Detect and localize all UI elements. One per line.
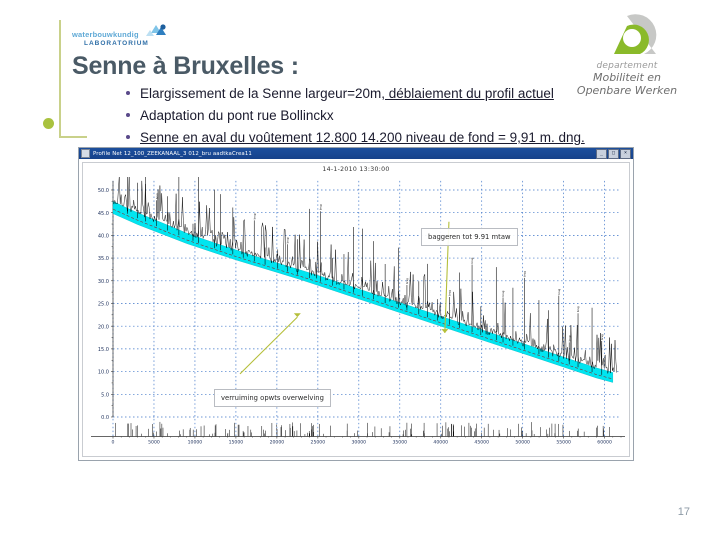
logo-right-department: departement <box>562 61 692 71</box>
list-item: Adaptation du pont rue Bollinckx <box>124 108 644 124</box>
bullet-text: Adaptation du pont rue Bollinckx <box>140 108 334 123</box>
app-window-icon <box>81 149 90 158</box>
svg-text:brug: brug <box>470 257 474 263</box>
svg-text:25000: 25000 <box>311 439 326 445</box>
svg-text:40.0: 40.0 <box>98 234 109 240</box>
svg-text:brug: brug <box>501 290 505 296</box>
triangle-swirl-icon <box>596 14 658 60</box>
window-body: 14-1-2010 13:30:00 0.05.010.015.020.025.… <box>79 159 633 460</box>
bullet-dot-icon <box>126 113 130 117</box>
svg-text:brug: brug <box>567 335 571 341</box>
svg-text:brug: brug <box>405 278 409 284</box>
svg-text:50.0: 50.0 <box>98 188 109 194</box>
svg-text:0: 0 <box>112 439 115 445</box>
svg-text:brug: brug <box>523 271 527 277</box>
svg-text:45000: 45000 <box>474 439 489 445</box>
svg-text:55000: 55000 <box>556 439 571 445</box>
chart-container: 14-1-2010 13:30:00 0.05.010.015.020.025.… <box>82 162 630 457</box>
svg-text:60000: 60000 <box>597 439 612 445</box>
longitudinal-profile-chart[interactable]: 0.05.010.015.020.025.030.035.040.045.050… <box>83 177 629 456</box>
svg-text:20000: 20000 <box>270 439 285 445</box>
window-titlebar[interactable]: Profile Net 12_100_ZEEKANAAL_3 012_bru a… <box>79 148 633 159</box>
svg-text:brug: brug <box>600 334 604 340</box>
bullet-text: Elargissement de la Senne largeur=20m <box>140 86 381 101</box>
profile-net-window: Profile Net 12_100_ZEEKANAAL_3 012_bru a… <box>78 147 634 461</box>
svg-text:50000: 50000 <box>515 439 530 445</box>
slide: waterbouwkundig LABORATORIUM departement… <box>0 0 720 540</box>
maximize-button[interactable]: □ <box>608 149 619 159</box>
svg-text:brug: brug <box>319 204 323 210</box>
window-title: Profile Net 12_100_ZEEKANAAL_3 012_bru a… <box>93 151 593 157</box>
logo-left-line2: LABORATORIUM <box>84 40 188 48</box>
mobiliteit-openbare-werken-logo: departement Mobiliteit en Openbare Werke… <box>562 14 692 96</box>
svg-text:45.0: 45.0 <box>98 211 109 217</box>
bullet-list: Elargissement de la Senne largeur=20m, d… <box>124 86 644 152</box>
page-title: Senne à Bruxelles : <box>72 52 299 81</box>
svg-text:35.0: 35.0 <box>98 256 109 262</box>
chart-title-date: 14-1-2010 13:30:00 <box>83 166 629 173</box>
svg-text:15.0: 15.0 <box>98 347 109 353</box>
verruiming-callout-text: verruiming opwts overwelving <box>221 394 324 402</box>
plot-area: 0.05.010.015.020.025.030.035.040.045.050… <box>83 177 629 456</box>
svg-text:brug: brug <box>448 290 452 296</box>
window-controls: _ □ × <box>596 149 631 159</box>
svg-text:20.0: 20.0 <box>98 324 109 330</box>
bullet-dot-icon <box>126 91 130 95</box>
svg-text:30000: 30000 <box>352 439 367 445</box>
bullet-text-underlined: , déblaiement du profil actuel <box>381 86 554 101</box>
svg-text:brug: brug <box>576 306 580 312</box>
svg-text:brug: brug <box>285 237 289 243</box>
waterbouwkundig-laboratorium-logo: waterbouwkundig LABORATORIUM <box>72 18 192 52</box>
svg-text:35000: 35000 <box>392 439 407 445</box>
svg-text:brug: brug <box>557 288 561 294</box>
close-button[interactable]: × <box>620 149 631 159</box>
bullet-text: Senne en aval du voûtement 12.800 14.200… <box>140 130 585 145</box>
logo-left-line1: waterbouwkundig <box>72 31 176 39</box>
bullet-dot-icon <box>126 135 130 139</box>
baggeren-callout-text: baggeren tot 9.91 mtaw <box>428 233 511 241</box>
svg-text:40000: 40000 <box>433 439 448 445</box>
svg-text:30.0: 30.0 <box>98 279 109 285</box>
logo-right-line1: Mobiliteit en <box>562 71 692 84</box>
svg-text:5.0: 5.0 <box>101 392 109 398</box>
decor-left-rule-foot <box>59 136 87 138</box>
svg-text:25.0: 25.0 <box>98 302 109 308</box>
slide-number: 17 <box>678 506 690 518</box>
svg-text:10.0: 10.0 <box>98 370 109 376</box>
decor-green-dot <box>43 118 54 129</box>
list-item: Elargissement de la Senne largeur=20m, d… <box>124 86 644 102</box>
svg-text:10000: 10000 <box>188 439 203 445</box>
decor-left-rule <box>59 20 61 138</box>
baggeren-callout: baggeren tot 9.91 mtaw <box>421 228 518 246</box>
minimize-button[interactable]: _ <box>596 149 607 159</box>
svg-text:brug: brug <box>252 213 256 219</box>
svg-text:5000: 5000 <box>148 439 160 445</box>
list-item: Senne en aval du voûtement 12.800 14.200… <box>124 130 644 146</box>
svg-text:brug: brug <box>155 193 159 199</box>
svg-text:15000: 15000 <box>229 439 244 445</box>
verruiming-callout: verruiming opwts overwelving <box>214 389 331 407</box>
